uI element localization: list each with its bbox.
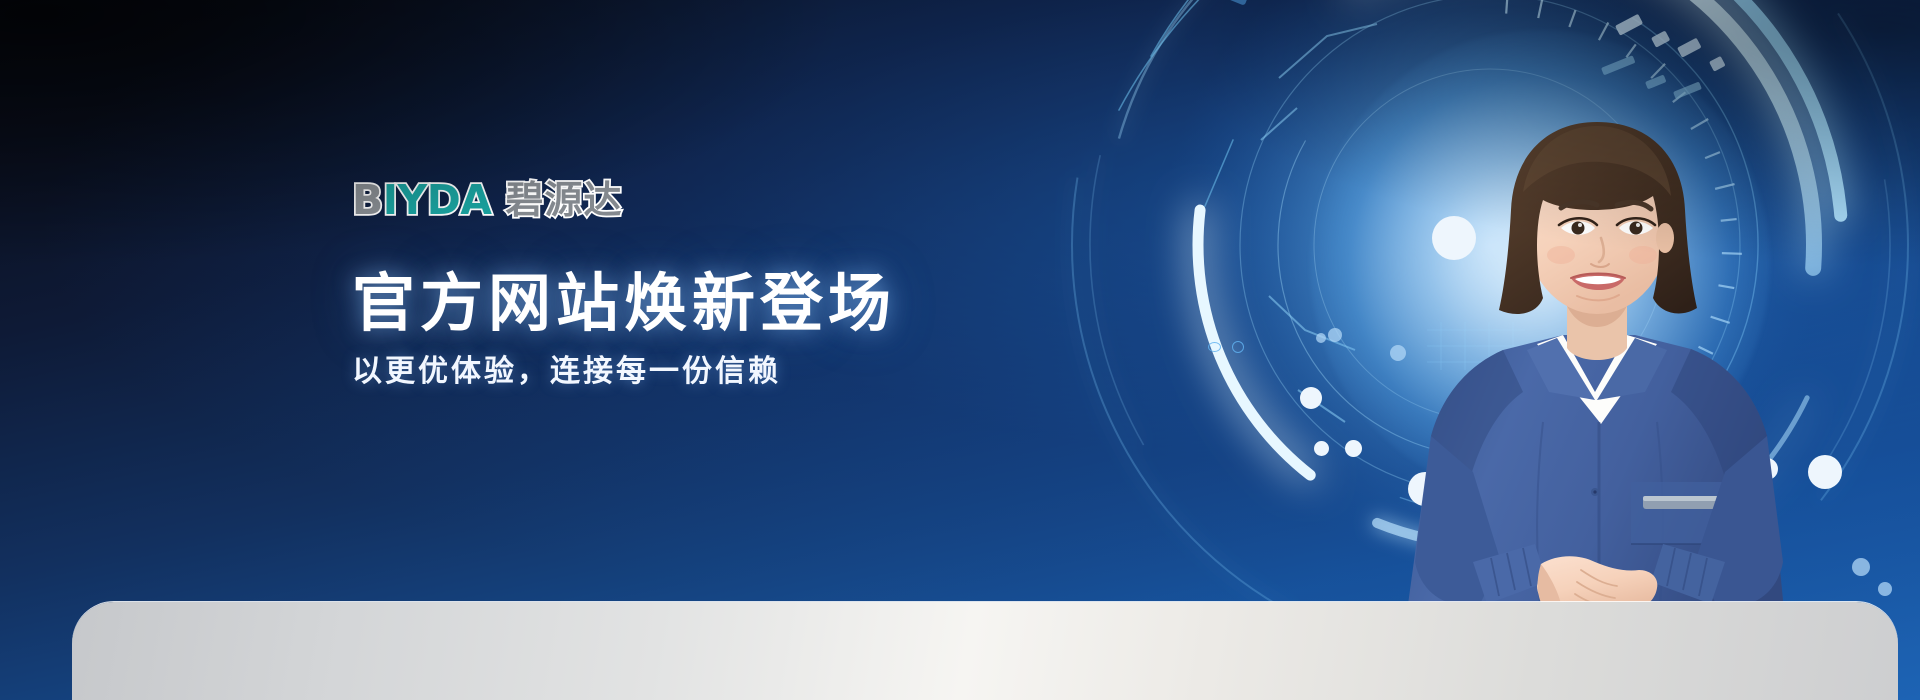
bottom-rounded-panel	[72, 602, 1898, 700]
bokeh-dot	[1300, 387, 1322, 409]
bokeh-dot	[1452, 392, 1482, 422]
bokeh-dot	[1314, 441, 1329, 456]
hero-banner: BIYDA 碧源达 官方网站焕新登场 以更优体验，连接每一份信赖	[0, 0, 1920, 700]
brand-logo-latin-rest: IYDA	[383, 176, 492, 224]
bokeh-dot	[1316, 333, 1326, 343]
bokeh-dot	[1390, 345, 1406, 361]
bokeh-dot	[1328, 328, 1342, 342]
brand-logo-b-mark: B	[352, 176, 383, 224]
bokeh-dot	[1878, 582, 1892, 596]
bokeh-ring	[1232, 341, 1244, 353]
bokeh-dot	[1432, 216, 1476, 260]
tech-hud-circle	[1055, 0, 1920, 680]
bokeh-ring	[1208, 342, 1221, 352]
brand-logo: BIYDA 碧源达	[352, 176, 1112, 224]
brand-logo-chinese: 碧源达	[505, 181, 622, 219]
page-title: 官方网站焕新登场	[352, 270, 1112, 338]
page-subtitle: 以更优体验，连接每一份信赖	[352, 354, 1112, 390]
bokeh-dot	[1345, 440, 1362, 457]
bokeh-dot	[1756, 458, 1778, 480]
hero-text-block: BIYDA 碧源达 官方网站焕新登场 以更优体验，连接每一份信赖	[352, 176, 1112, 390]
head-backlight-glow	[1310, 30, 1770, 500]
brand-logo-latin: BIYDA	[352, 180, 491, 221]
bokeh-dot	[1408, 472, 1442, 506]
bokeh-dot	[1808, 455, 1842, 489]
bokeh-dot	[1852, 558, 1870, 576]
